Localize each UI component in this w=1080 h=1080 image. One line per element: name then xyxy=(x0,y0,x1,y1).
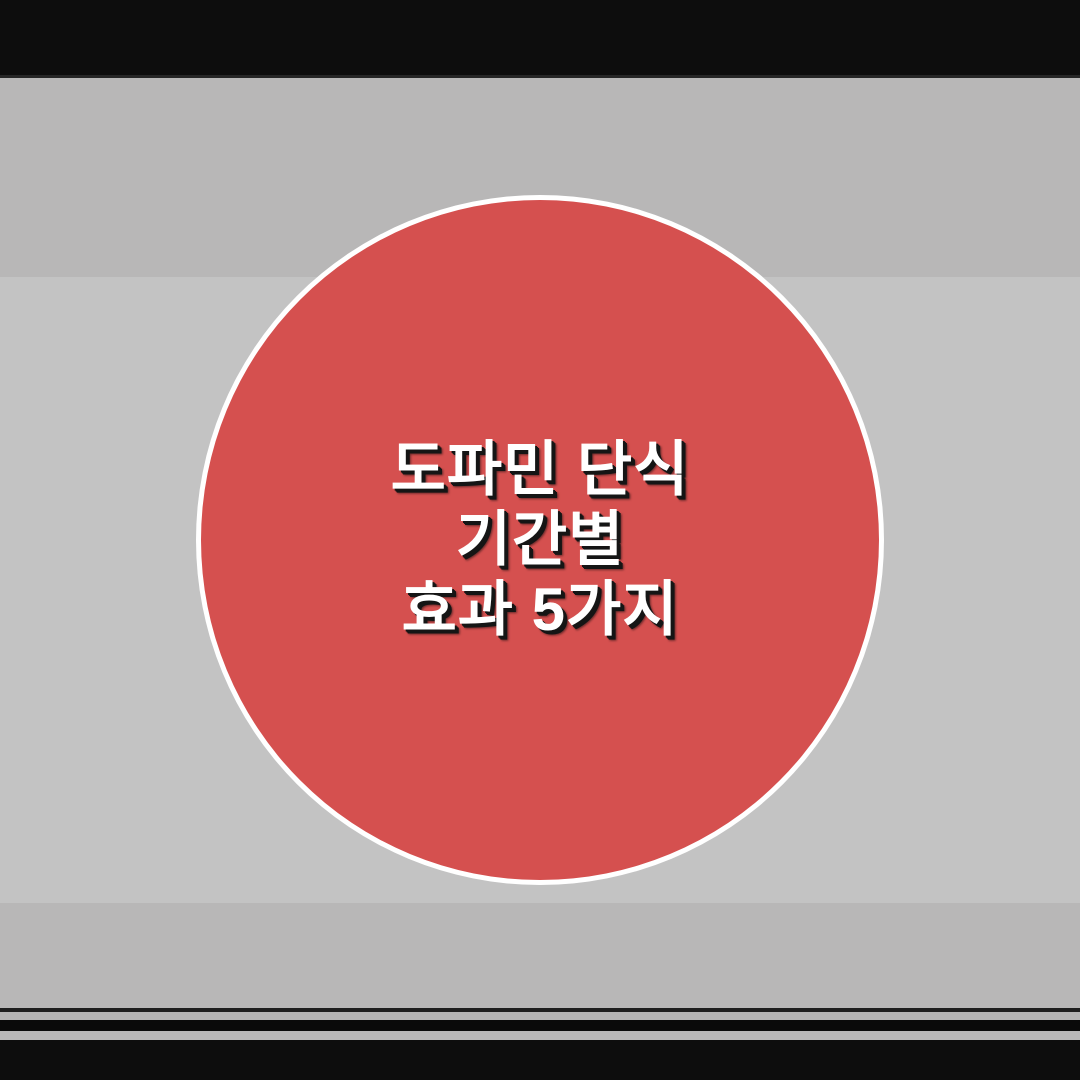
divider-line-lower xyxy=(0,1020,1080,1031)
divider-gap-upper xyxy=(0,1012,1080,1020)
letterbox-bar-bottom xyxy=(0,1040,1080,1080)
title-circle-badge: 도파민 단식 기간별 효과 5가지 xyxy=(196,195,884,885)
page-title: 도파민 단식 기간별 효과 5가지 xyxy=(391,435,690,646)
letterbox-bar-top xyxy=(0,0,1080,75)
letterbox-edge-top xyxy=(0,75,1080,78)
page-title-line-2: 기간별 xyxy=(391,505,690,575)
background-band-lower xyxy=(0,903,1080,1008)
divider-gap-lower xyxy=(0,1031,1080,1040)
video-frame: 도파민 단식 기간별 효과 5가지 xyxy=(0,0,1080,1080)
page-title-line-3: 효과 5가지 xyxy=(391,575,690,645)
page-title-line-1: 도파민 단식 xyxy=(391,435,690,505)
